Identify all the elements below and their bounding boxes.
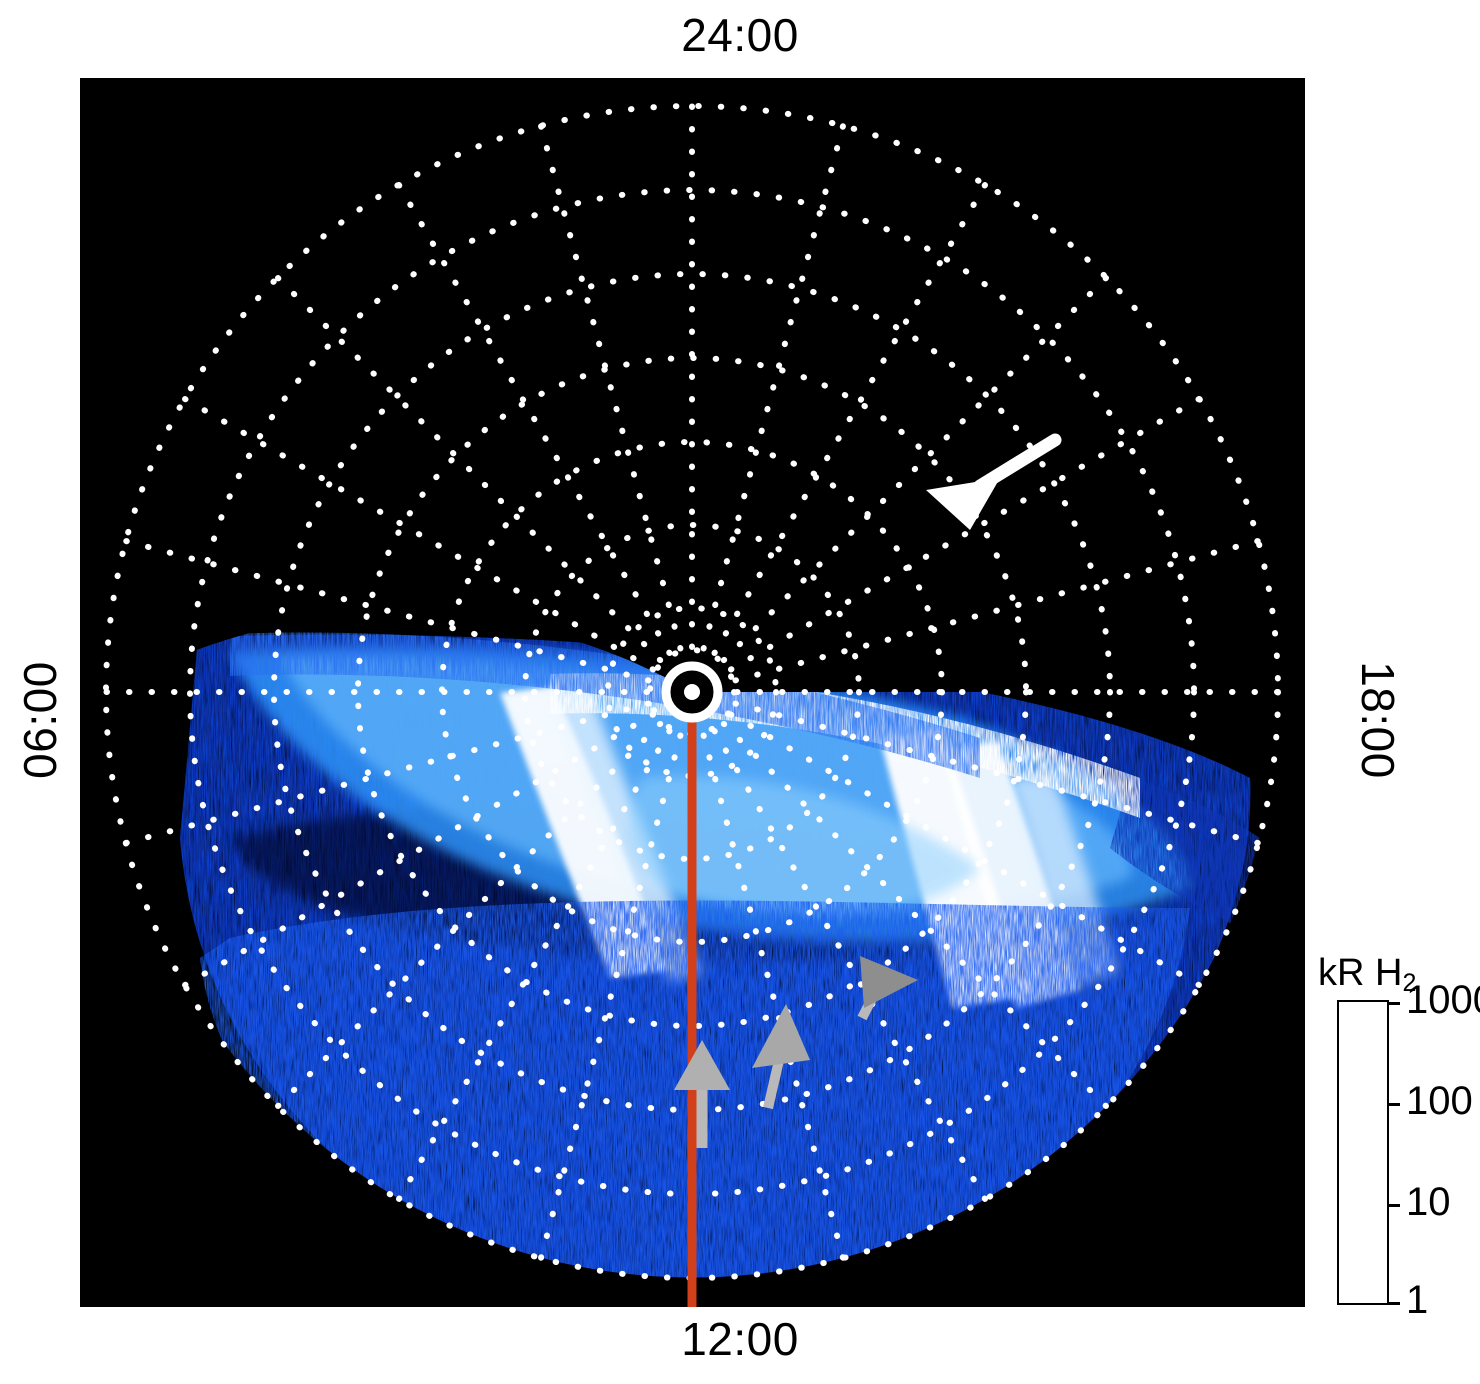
local-time-label-left: 06:00 <box>13 620 67 820</box>
polar-aurora-plot <box>80 78 1305 1307</box>
pole-marker <box>666 666 718 718</box>
local-time-label-right: 18:00 <box>1351 620 1405 820</box>
colorbar-tick-10 <box>1389 1204 1400 1207</box>
colorbar-tick-1 <box>1389 1302 1400 1305</box>
colorbar-label-10: 10 <box>1406 1182 1451 1222</box>
colorbar-tick-1000 <box>1389 1002 1400 1005</box>
colorbar-label-100: 100 <box>1406 1081 1473 1121</box>
colorbar-label-1000: 1000 <box>1406 980 1480 1020</box>
local-time-label-bottom: 12:00 <box>0 1312 1480 1366</box>
colorbar-title: kR H2 <box>1318 952 1416 998</box>
aurora-svg <box>80 78 1305 1307</box>
colorbar: kR H2 1000 100 10 1 <box>1318 952 1480 1322</box>
colorbar-label-1: 1 <box>1406 1280 1428 1320</box>
local-time-label-top: 24:00 <box>0 8 1480 62</box>
colorbar-tick-100 <box>1389 1103 1400 1106</box>
colorbar-gradient <box>1337 1000 1389 1305</box>
colorbar-title-main: kR H <box>1318 952 1402 994</box>
